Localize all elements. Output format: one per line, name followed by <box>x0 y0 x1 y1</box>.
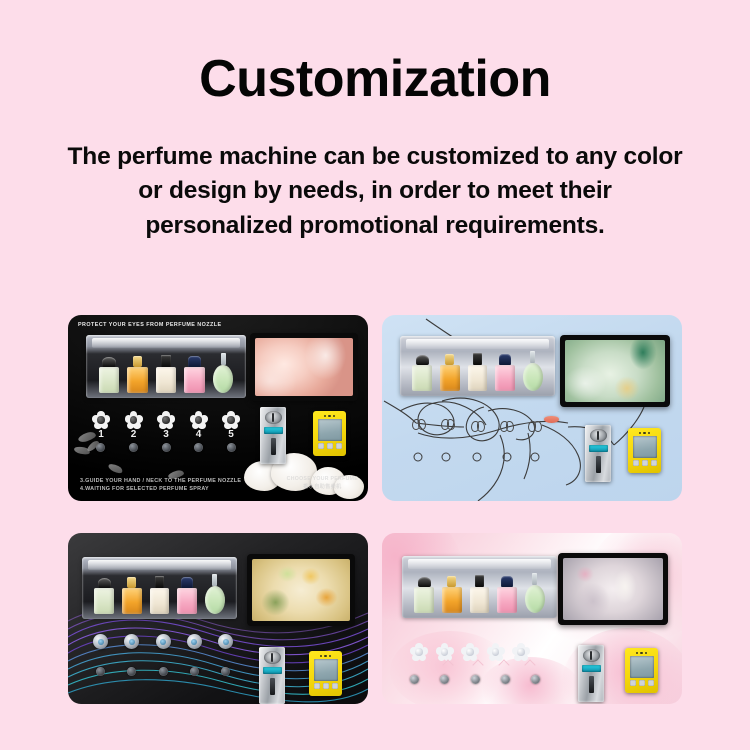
spray-outlet[interactable] <box>221 667 230 676</box>
perfume-bottle <box>525 573 545 613</box>
coin-acceptor[interactable] <box>585 425 611 482</box>
bottle-cap-icon <box>212 574 217 586</box>
nozzle-button-3[interactable] <box>156 634 171 649</box>
bottle-row <box>412 347 542 391</box>
spray-outlet-row <box>410 675 540 684</box>
reader-indicator-lights <box>316 415 343 417</box>
coin-display-screen <box>589 445 608 452</box>
perfume-bottle <box>205 574 225 614</box>
flower-nozzle-icon <box>92 411 110 429</box>
bottle-body <box>470 587 490 613</box>
nozzle-2[interactable] <box>434 643 456 661</box>
spray-outlet[interactable] <box>501 675 510 684</box>
machine-card-dark-wave[interactable] <box>68 533 368 704</box>
perfume-bottle <box>468 353 488 391</box>
coin-display-screen <box>264 427 283 434</box>
bottle-cap-icon <box>98 578 111 588</box>
bottle-cap-icon <box>530 351 535 363</box>
machine-card-black[interactable]: PROTECT YOUR EYES FROM PERFUME NOZZLE <box>68 315 368 501</box>
nozzle-row <box>408 643 532 661</box>
instruction-line-1: 3.GUIDE YOUR HAND / NECK TO THE PERFUME … <box>80 478 241 484</box>
perfume-bottle <box>440 354 460 391</box>
product-shelf <box>402 556 557 618</box>
product-shelf <box>400 336 555 396</box>
reader-indicator-lights <box>628 652 655 654</box>
machine-branding-text: CHOOSE YOUR PERFUME 香水自助售卖机 <box>287 476 358 492</box>
coin-acceptor[interactable] <box>260 407 286 464</box>
bottle-body <box>442 587 462 613</box>
nozzle-warning-label: PROTECT YOUR EYES FROM PERFUME NOZZLE <box>78 322 222 328</box>
spray-outlet[interactable] <box>227 443 236 452</box>
machine-card-pink[interactable] <box>382 533 682 704</box>
bottle-body <box>414 587 434 613</box>
spray-outlet[interactable] <box>127 667 136 676</box>
card-reader[interactable] <box>625 648 658 693</box>
chevron-up-icon <box>500 661 509 673</box>
ad-image-silk <box>255 338 353 396</box>
bow-decoration <box>441 419 455 428</box>
bottle-cap-icon <box>155 576 164 588</box>
page-subtitle: The perfume machine can be customized to… <box>65 140 685 244</box>
bottle-body <box>177 588 197 614</box>
bottle-cap-icon <box>499 354 511 365</box>
machine-instruction-text: 3.GUIDE YOUR HAND / NECK TO THE PERFUME … <box>80 477 241 493</box>
reader-lcd-screen <box>318 419 342 441</box>
nozzle-number: 2 <box>123 430 145 440</box>
bottle-cap-icon <box>416 355 429 365</box>
coin-display-screen <box>263 667 282 674</box>
perfume-bottle <box>495 354 515 391</box>
bottle-body <box>497 587 517 613</box>
instruction-line-2: 4.WAITING FOR SELECTED PERFUME SPRAY <box>80 486 209 492</box>
advertisement-screen[interactable] <box>558 553 668 625</box>
spray-outlet[interactable] <box>194 443 203 452</box>
coin-slot-icon[interactable] <box>590 429 607 442</box>
bottle-body <box>184 367 204 393</box>
bottle-cap-icon <box>188 356 200 367</box>
bottle-cap-icon <box>127 577 136 588</box>
reader-lcd-screen <box>314 659 338 681</box>
bottle-cap-icon <box>532 573 537 585</box>
ad-image-splash <box>565 340 665 402</box>
spray-outlet[interactable] <box>96 667 105 676</box>
bottle-cap-icon <box>473 353 482 365</box>
reader-indicator-lights <box>312 655 339 657</box>
bottle-cap-icon <box>102 357 115 367</box>
coin-acceptor[interactable] <box>259 647 285 704</box>
nozzle-row: 1 2 3 4 5 <box>90 411 242 440</box>
bottle-body <box>94 588 114 614</box>
flower-nozzle-icon <box>512 643 530 661</box>
page-title: Customization <box>0 52 750 107</box>
machine-gallery: PROTECT YOUR EYES FROM PERFUME NOZZLE <box>68 315 682 704</box>
bow-decoration <box>412 419 426 428</box>
spray-outlet[interactable] <box>471 675 480 684</box>
nozzle-button-5[interactable] <box>218 634 233 649</box>
advertisement-screen[interactable] <box>560 335 670 407</box>
page-root: Customization The perfume machine can be… <box>0 0 750 750</box>
nozzle-number: 4 <box>188 430 210 440</box>
coin-acceptor[interactable] <box>578 645 604 702</box>
perfume-bottle <box>156 355 176 393</box>
advertisement-screen[interactable] <box>250 333 358 401</box>
perfume-bottle <box>122 577 142 614</box>
perfume-bottle <box>184 356 204 393</box>
decorative-petal <box>107 462 124 475</box>
nozzle-button-4[interactable] <box>187 634 202 649</box>
perfume-bottle <box>150 576 170 614</box>
bottle-body <box>523 363 543 391</box>
branding-line-2: 香水自助售卖机 <box>303 484 341 490</box>
bottle-body <box>156 367 176 393</box>
spray-outlet[interactable] <box>162 443 171 452</box>
nozzle-button-2[interactable] <box>124 634 139 649</box>
flower-nozzle-icon <box>222 411 240 429</box>
product-shelf <box>82 557 237 619</box>
bottle-cap-icon <box>181 577 193 588</box>
chevron-up-icon <box>444 661 453 673</box>
bottle-cap-icon <box>445 354 454 365</box>
bottle-body <box>127 367 147 393</box>
bottle-cap-icon <box>475 575 484 587</box>
nozzle-2[interactable]: 2 <box>123 411 145 440</box>
flower-nozzle-icon <box>157 411 175 429</box>
perfume-bottle <box>470 575 490 613</box>
bottle-row <box>414 567 544 613</box>
ad-image-floral <box>252 559 350 621</box>
spray-outlet[interactable] <box>531 675 540 684</box>
machine-card-blue[interactable] <box>382 315 682 501</box>
ad-image-grey <box>563 558 663 620</box>
spray-outlet-row <box>96 667 230 676</box>
chevron-up-icon <box>526 661 535 673</box>
nozzle-3[interactable]: 3 <box>155 411 177 440</box>
reader-keypad[interactable] <box>318 443 342 449</box>
reader-keypad[interactable] <box>630 680 654 686</box>
nozzle-4[interactable]: 4 <box>188 411 210 440</box>
bow-decoration <box>528 421 542 430</box>
bottle-body <box>122 588 142 614</box>
bottle-row <box>99 346 233 393</box>
reader-keypad[interactable] <box>314 683 338 689</box>
bottle-body <box>440 365 460 391</box>
nozzle-number: 5 <box>220 430 242 440</box>
coin-slot-icon[interactable] <box>265 411 282 424</box>
perfume-bottle <box>99 357 119 393</box>
perfume-bottle <box>127 356 147 393</box>
bottle-body <box>412 365 432 391</box>
flower-nozzle-icon <box>125 411 143 429</box>
perfume-bottle <box>497 576 517 613</box>
nozzle-5[interactable]: 5 <box>220 411 242 440</box>
spray-outlet[interactable] <box>410 675 419 684</box>
perfume-bottle <box>523 351 543 391</box>
flower-nozzle-icon <box>487 643 505 661</box>
reader-lcd-screen <box>630 656 654 678</box>
coin-return-slot[interactable] <box>596 456 601 473</box>
perfume-bottle <box>177 577 197 614</box>
advertisement-screen[interactable] <box>247 554 355 626</box>
card-reader[interactable] <box>309 651 342 696</box>
coin-slot-icon[interactable] <box>264 651 281 664</box>
header-block: Customization The perfume machine can be… <box>0 0 750 244</box>
spray-outlet[interactable] <box>190 667 199 676</box>
perfume-bottle <box>412 355 432 391</box>
bottle-cap-icon <box>161 355 171 367</box>
bottle-body <box>99 367 119 393</box>
branding-line-1: CHOOSE YOUR PERFUME <box>287 476 358 482</box>
bottle-cap-icon <box>501 576 513 587</box>
product-shelf <box>86 335 246 398</box>
spray-outlet[interactable] <box>129 443 138 452</box>
bottle-cap-icon <box>447 576 456 587</box>
reader-keypad[interactable] <box>633 460 657 466</box>
bow-decoration <box>500 421 514 430</box>
bottle-body <box>205 586 225 614</box>
bottle-body <box>495 365 515 391</box>
spray-outlet[interactable] <box>440 675 449 684</box>
lips-decoration <box>544 416 559 423</box>
flower-nozzle-icon <box>461 643 479 661</box>
flower-nozzle-icon <box>190 411 208 429</box>
spray-outlet-row <box>96 443 236 452</box>
reader-indicator-lights <box>631 432 658 434</box>
perfume-bottle <box>442 576 462 613</box>
nozzle-number: 3 <box>155 430 177 440</box>
nozzle-button-row <box>93 634 233 649</box>
perfume-bottle <box>94 578 114 614</box>
bottle-row <box>94 568 224 614</box>
nozzle-1[interactable] <box>408 643 430 661</box>
bottle-cap-icon <box>133 356 142 367</box>
bottle-body <box>213 365 233 393</box>
perfume-bottle <box>414 577 434 613</box>
flower-nozzle-icon <box>410 643 428 661</box>
chevron-up-icon <box>474 661 483 673</box>
bow-decoration <box>471 421 485 430</box>
coin-return-slot[interactable] <box>271 438 276 455</box>
coin-slot-icon[interactable] <box>583 649 600 662</box>
bottle-body <box>525 585 545 613</box>
bottle-body <box>150 588 170 614</box>
reader-lcd-screen <box>633 436 657 458</box>
coin-return-slot[interactable] <box>270 678 275 695</box>
bottle-body <box>468 365 488 391</box>
card-reader[interactable] <box>628 428 661 473</box>
bottle-cap-icon <box>418 577 431 587</box>
bottle-cap-icon <box>221 353 226 365</box>
nozzle-5[interactable] <box>510 643 532 661</box>
perfume-bottle <box>213 353 233 393</box>
spray-outlet[interactable] <box>159 667 168 676</box>
flower-nozzle-icon <box>436 643 454 661</box>
coin-return-slot[interactable] <box>589 676 594 693</box>
coin-display-screen <box>582 665 601 672</box>
card-reader[interactable] <box>313 411 346 456</box>
nozzle-button-1[interactable] <box>93 634 108 649</box>
